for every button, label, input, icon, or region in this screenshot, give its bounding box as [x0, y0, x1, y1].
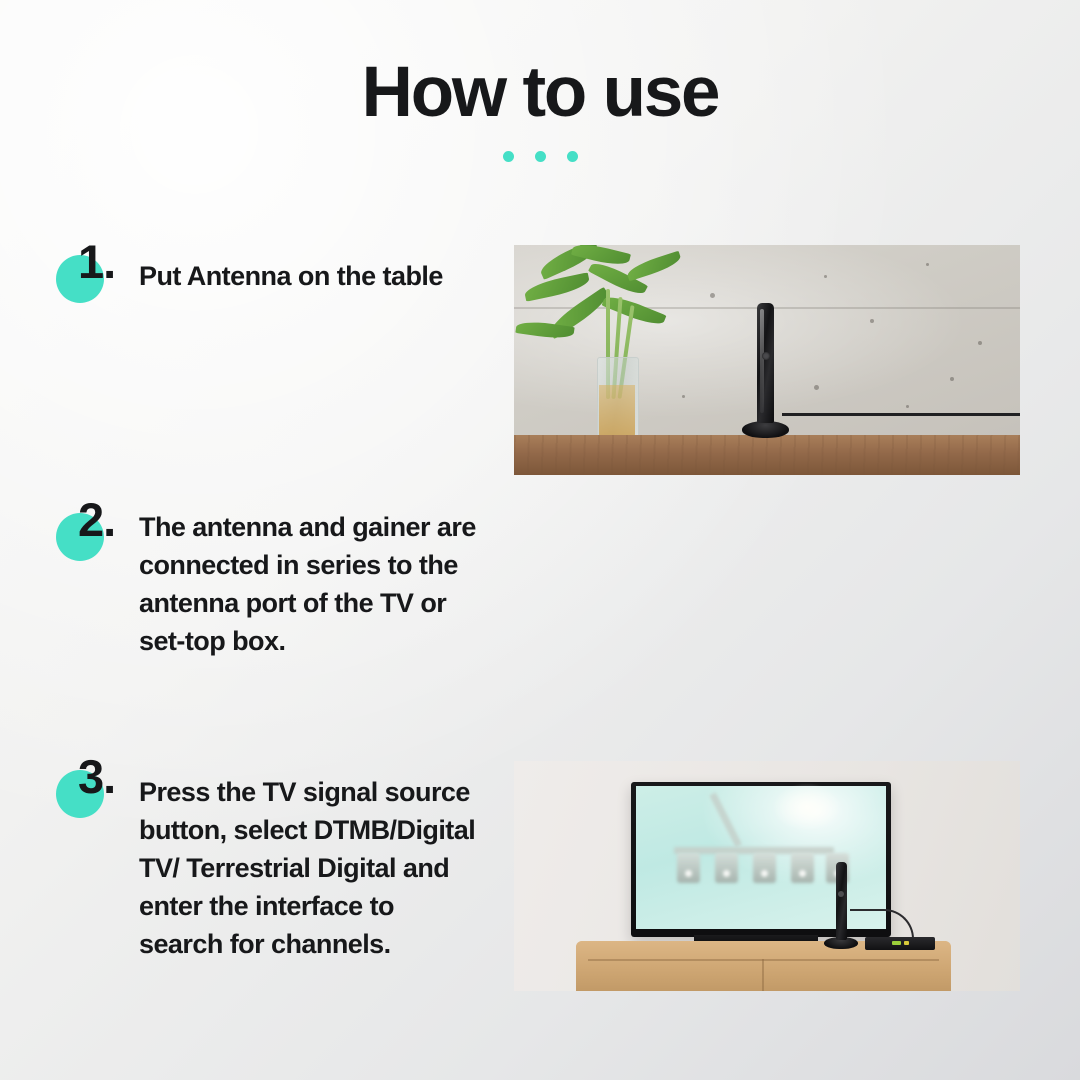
screen-content-lamp	[753, 853, 776, 883]
step-image-1	[514, 245, 1020, 475]
step-number-2: 2.	[78, 496, 115, 543]
page-title: How to use	[0, 0, 1080, 128]
screen-content-lamp	[791, 853, 814, 883]
step-number-3: 3.	[78, 753, 115, 800]
separator-dot-3	[567, 151, 578, 162]
separator-dot-1	[503, 151, 514, 162]
step-text-2: The antenna and gainer are connected in …	[139, 508, 484, 660]
step-text-1: Put Antenna on the table	[139, 257, 484, 295]
drawer-divider	[762, 959, 764, 991]
screen-content-lamp	[715, 853, 738, 883]
screen-content-lamp	[677, 853, 700, 883]
antenna-cable	[782, 413, 1020, 442]
vase-water	[599, 385, 635, 440]
step-number-badge-2: 2.	[56, 513, 104, 561]
steps-list: 1. Put Antenna on the table	[0, 245, 1080, 1005]
step-number-badge-3: 3.	[56, 770, 104, 818]
set-top-box-led	[904, 941, 909, 945]
step-number-1: 1.	[78, 238, 115, 285]
antenna-highlight	[760, 309, 764, 413]
how-to-use-poster: How to use 1. Put Antenna on the table	[0, 0, 1080, 1080]
separator-dot-2	[535, 151, 546, 162]
antenna-base	[742, 421, 789, 438]
antenna-body	[836, 862, 847, 940]
step-text-3: Press the TV signal source button, selec…	[139, 773, 484, 963]
step-number-badge-1: 1.	[56, 255, 104, 303]
screen-glow	[772, 783, 842, 831]
poster-header: How to use	[0, 0, 1080, 162]
set-top-box-led	[892, 941, 901, 945]
antenna-indicator	[838, 891, 844, 897]
step-image-2	[514, 761, 1020, 991]
title-dot-separator	[0, 151, 1080, 162]
antenna-indicator	[762, 352, 770, 360]
